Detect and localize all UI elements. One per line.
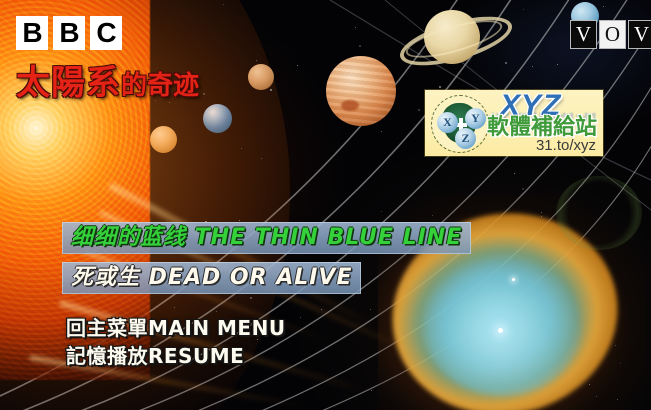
menu-item-dead-or-alive[interactable]: 死或生 DEAD OR ALIVE	[62, 262, 361, 294]
lens-flare-circle	[556, 176, 642, 250]
vov-letter-1: V	[570, 20, 597, 49]
xyz-ball-x: X	[437, 112, 458, 133]
bbc-logo: B B C	[16, 16, 122, 50]
bbc-letter-1: B	[16, 16, 48, 50]
series-title-primary: 太陽系	[16, 63, 121, 103]
series-title: 太陽系的奇迹	[16, 55, 199, 104]
xyz-url-text: 31.to/xyz	[536, 137, 596, 154]
planet-jupiter	[326, 56, 396, 126]
vov-letter-2: O	[599, 20, 626, 49]
bbc-letter-3: C	[90, 16, 122, 50]
vov-letter-3: V	[628, 20, 651, 49]
xyz-watermark-banner[interactable]: X Y Z 軟體補給站 XYZ 軟體補給站 31.to/xyz	[425, 90, 603, 156]
jupiter-great-red-spot	[341, 100, 359, 111]
series-title-secondary: 的奇迹	[121, 71, 199, 101]
xyz-ball-y: Y	[465, 108, 486, 129]
bbc-letter-2: B	[53, 16, 85, 50]
menu-item-resume[interactable]: 記憶播放RESUME	[66, 344, 244, 368]
xyz-ball-z: Z	[455, 128, 476, 149]
nebula-core	[424, 258, 582, 396]
menu-item-main-menu[interactable]: 回主菜單MAIN MENU	[66, 316, 286, 340]
dvd-menu-screen: B B C 太陽系的奇迹 V O V X Y Z 軟體補給站 XYZ 軟體補給站…	[0, 0, 651, 410]
nebula-field-star	[512, 278, 515, 281]
menu-item-thin-blue-line[interactable]: 细细的蓝线 THE THIN BLUE LINE	[62, 222, 471, 254]
menu-item-dead-or-alive-label: 死或生 DEAD OR ALIVE	[71, 265, 352, 290]
vov-logo: V O V	[570, 20, 651, 49]
menu-item-thin-blue-line-label: 细细的蓝线 THE THIN BLUE LINE	[71, 225, 462, 250]
nebula-central-star	[498, 328, 503, 333]
